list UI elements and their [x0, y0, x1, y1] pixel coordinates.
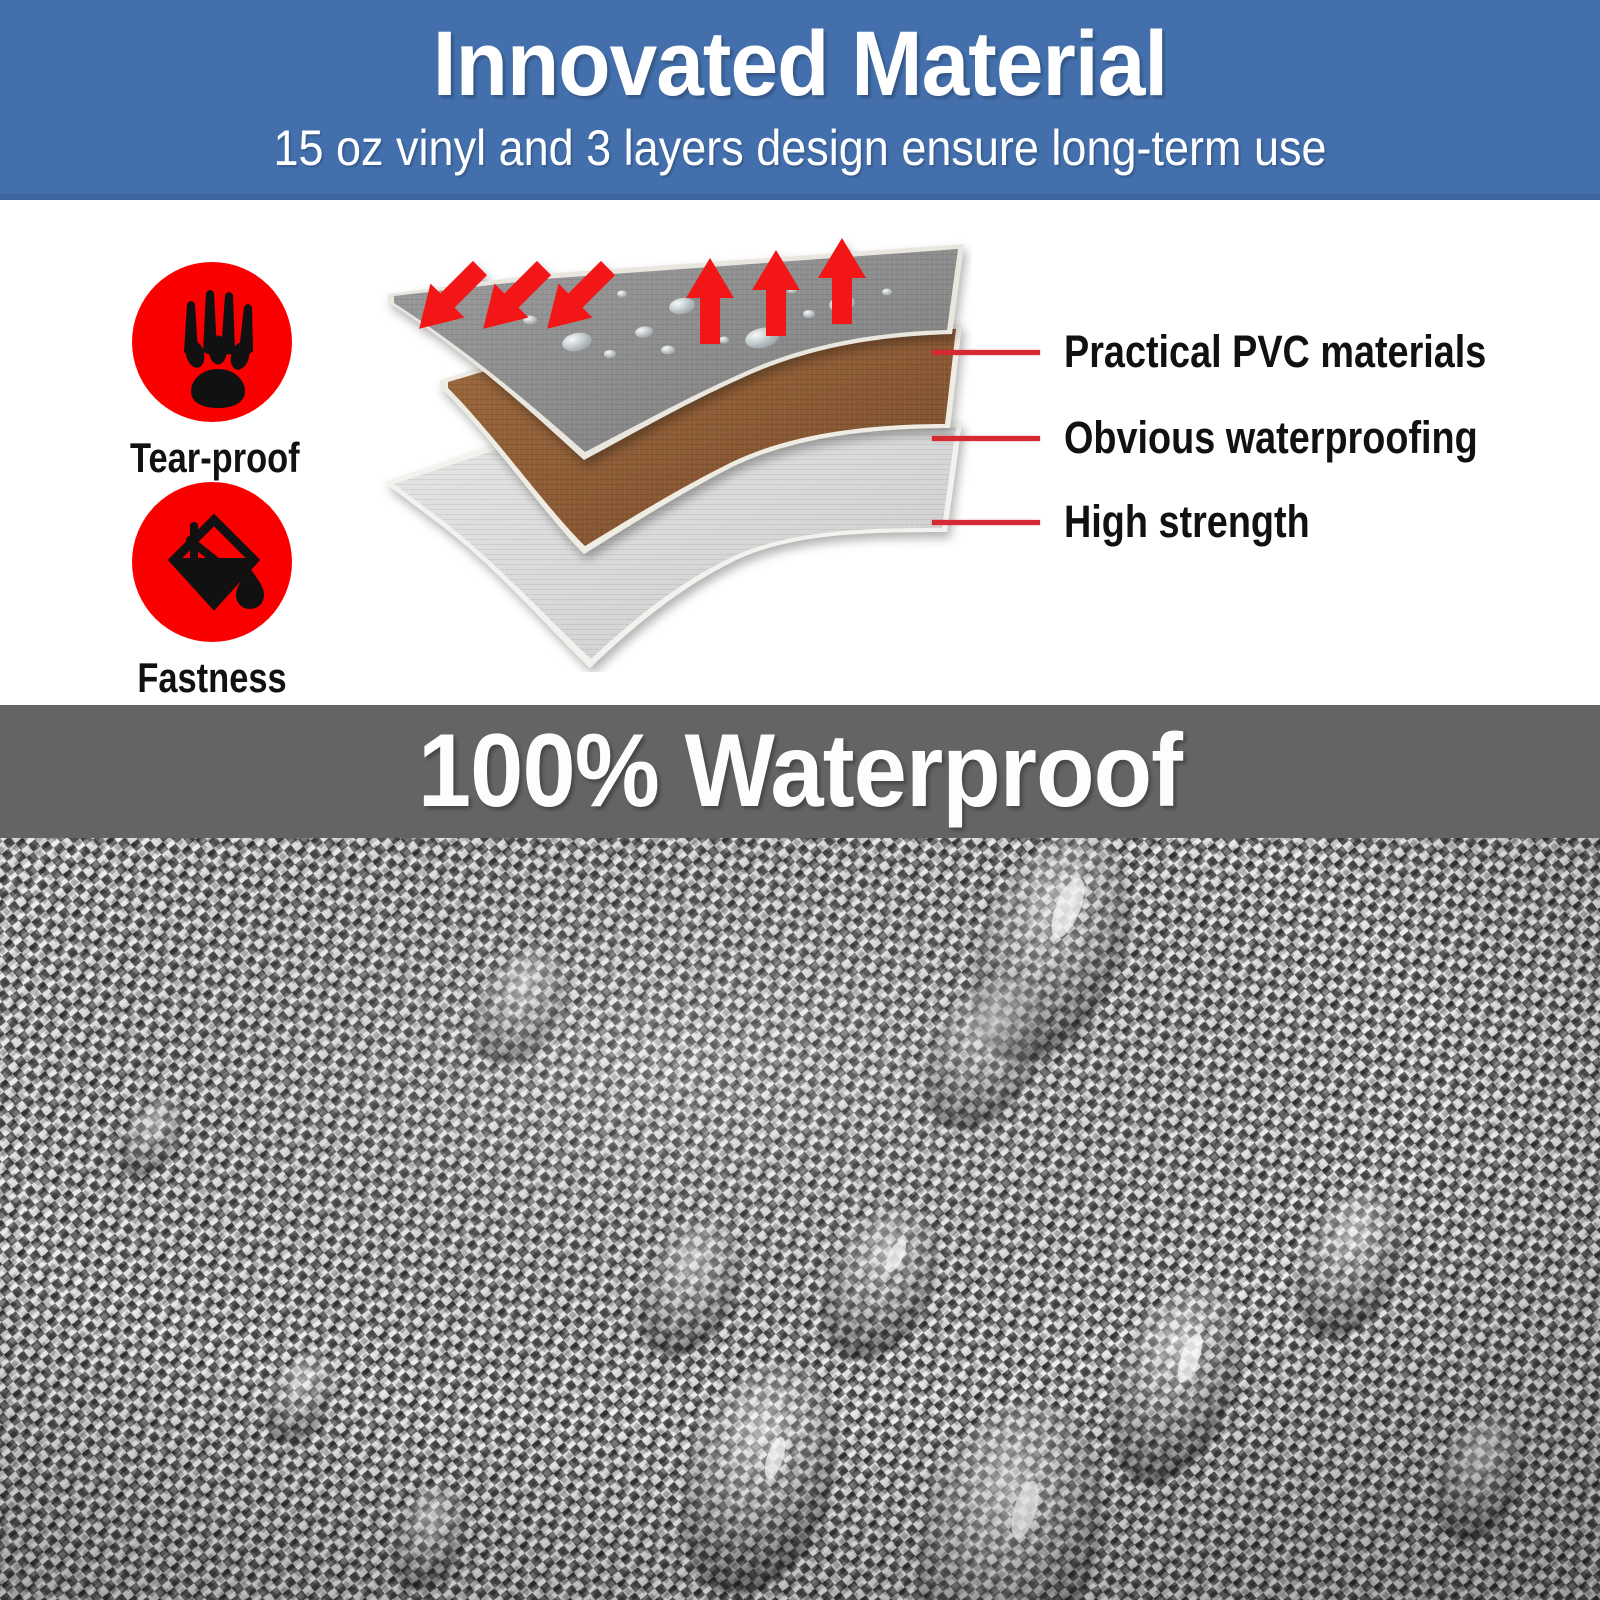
badge-fastness: Fastness [112, 482, 312, 702]
infographic-page: Innovated Material 15 oz vinyl and 3 lay… [0, 0, 1600, 1600]
header-band: Innovated Material 15 oz vinyl and 3 lay… [0, 0, 1600, 200]
callout-obvious-waterproofing: Obvious waterproofing [932, 408, 1557, 468]
waterproof-banner-text: 100% Waterproof [64, 707, 1536, 835]
layer-diagram [372, 232, 972, 672]
callout-label: Practical PVC materials [1064, 326, 1486, 378]
callout-label: Obvious waterproofing [1064, 412, 1478, 464]
badge-circle [132, 482, 292, 642]
waterproof-banner: 100% Waterproof [0, 705, 1600, 838]
fabric-closeup-photo [0, 838, 1600, 1600]
callout-leader-line [932, 436, 1040, 441]
page-title: Innovated Material [56, 16, 1544, 112]
callout-label: High strength [1064, 496, 1310, 548]
paint-bucket-drip-icon [132, 482, 292, 642]
feature-section: Tear-proof [0, 200, 1600, 705]
badge-label: Tear-proof [130, 434, 294, 482]
callout-leader-line [932, 520, 1040, 525]
claw-paw-icon [132, 262, 292, 422]
callout-high-strength: High strength [932, 492, 1356, 552]
page-subtitle: 15 oz vinyl and 3 layers design ensure l… [80, 120, 1520, 176]
badge-tear-proof: Tear-proof [112, 262, 312, 482]
badge-label: Fastness [130, 654, 294, 702]
badge-circle [132, 262, 292, 422]
callout-leader-line [932, 350, 1040, 355]
callout-practical-pvc-materials: Practical PVC materials [932, 322, 1567, 382]
